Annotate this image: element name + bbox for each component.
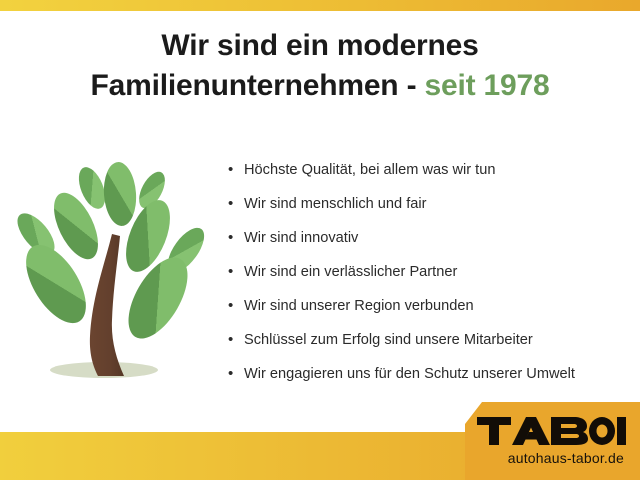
headline-line-2: Familienunternehmen - seit 1978 xyxy=(0,66,640,106)
list-item-label: Wir engagieren uns für den Schutz unsere… xyxy=(244,357,575,391)
list-item: • Wir engagieren uns für den Schutz unse… xyxy=(228,357,638,391)
page-title: Wir sind ein modernes Familienunternehme… xyxy=(0,26,640,106)
logo-tagline[interactable]: autohaus-tabor.de xyxy=(440,450,636,466)
list-item: • Wir sind menschlich und fair xyxy=(228,187,638,221)
tree-leaf xyxy=(102,161,138,227)
bullet-marker-icon: • xyxy=(228,255,244,289)
list-item: • Wir sind innovativ xyxy=(228,221,638,255)
list-item-label: Höchste Qualität, bei allem was wir tun xyxy=(244,153,495,187)
tabor-wordmark[interactable] xyxy=(476,414,626,448)
list-item-label: Wir sind innovativ xyxy=(244,221,358,255)
tree-illustration xyxy=(8,158,220,390)
list-item-label: Wir sind ein verlässlicher Partner xyxy=(244,255,457,289)
bullet-marker-icon: • xyxy=(228,289,244,323)
list-item-label: Schlüssel zum Erfolg sind unsere Mitarbe… xyxy=(244,323,533,357)
bullet-marker-icon: • xyxy=(228,221,244,255)
bullet-marker-icon: • xyxy=(228,153,244,187)
list-item: • Schlüssel zum Erfolg sind unsere Mitar… xyxy=(228,323,638,357)
bullet-marker-icon: • xyxy=(228,323,244,357)
value-list: • Höchste Qualität, bei allem was wir tu… xyxy=(228,153,638,391)
list-item: • Höchste Qualität, bei allem was wir tu… xyxy=(228,153,638,187)
list-item: • Wir sind unserer Region verbunden xyxy=(228,289,638,323)
headline-line-2-main: Familienunternehmen - xyxy=(91,69,425,102)
bullet-marker-icon: • xyxy=(228,357,244,391)
slide-canvas: Wir sind ein modernes Familienunternehme… xyxy=(0,0,640,480)
list-item-label: Wir sind menschlich und fair xyxy=(244,187,427,221)
list-item-label: Wir sind unserer Region verbunden xyxy=(244,289,474,323)
list-item: • Wir sind ein verlässlicher Partner xyxy=(228,255,638,289)
bullet-marker-icon: • xyxy=(228,187,244,221)
headline-accent-year: seit 1978 xyxy=(425,69,550,102)
top-accent-bar xyxy=(0,0,640,11)
headline-line-1: Wir sind ein modernes xyxy=(0,26,640,66)
